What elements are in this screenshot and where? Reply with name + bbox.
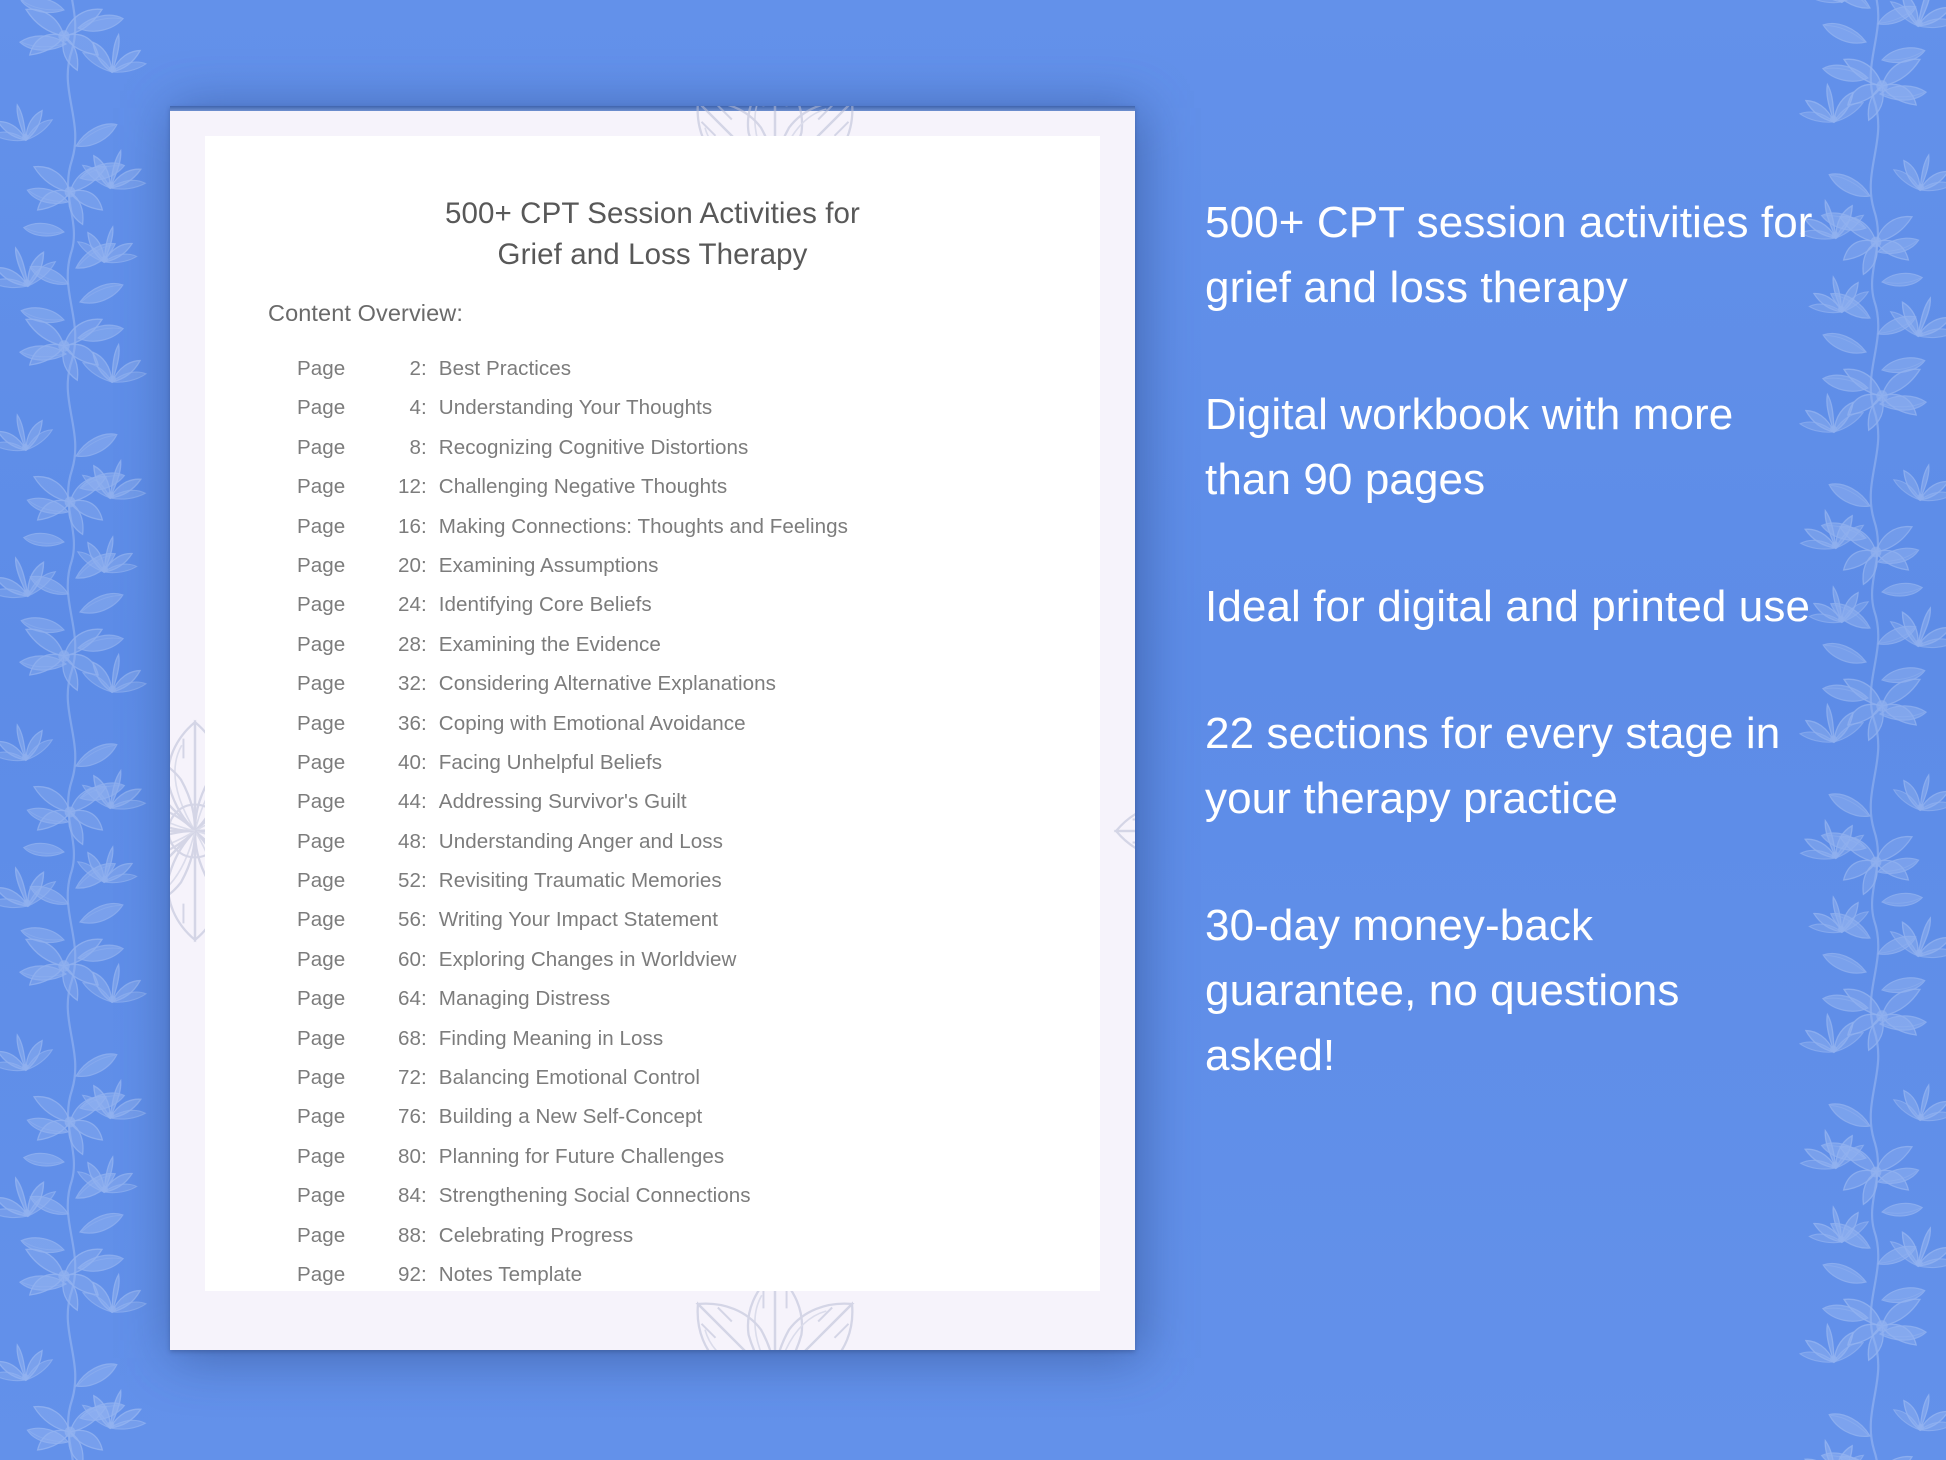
toc-page-number: 2 [385,357,421,381]
toc-row: Page40:Facing Unhelpful Beliefs [297,751,1087,790]
toc-colon: : [421,1027,439,1051]
toc-entry-title: Strengthening Social Connections [439,1184,751,1208]
toc-page-number: 24 [385,593,421,617]
toc-entry-title: Coping with Emotional Avoidance [439,712,746,736]
toc-colon: : [421,1105,439,1129]
toc-page-word: Page [297,633,385,657]
toc-page-number: 56 [385,908,421,932]
toc-colon: : [421,987,439,1011]
floral-vine-border-icon [0,0,152,1460]
toc-entry-title: Building a New Self-Concept [439,1105,703,1129]
toc-row: Page56:Writing Your Impact Statement [297,908,1087,947]
toc-row: Page64:Managing Distress [297,987,1087,1026]
toc-entry-title: Recognizing Cognitive Distortions [439,436,749,460]
toc-page-word: Page [297,987,385,1011]
toc-colon: : [421,1263,439,1287]
toc-colon: : [421,1184,439,1208]
marketing-bullet-list: 500+ CPT session activities for grief an… [1205,190,1815,1088]
toc-page-number: 28 [385,633,421,657]
toc-page-number: 88 [385,1224,421,1248]
toc-page-word: Page [297,1184,385,1208]
toc-row: Page44:Addressing Survivor's Guilt [297,790,1087,829]
toc-page-number: 60 [385,948,421,972]
toc-colon: : [421,633,439,657]
toc-row: Page36:Coping with Emotional Avoidance [297,712,1087,751]
toc-colon: : [421,830,439,854]
toc-page-number: 80 [385,1145,421,1169]
workbook-page-sheet: 500+ CPT Session Activities for Grief an… [205,136,1100,1291]
toc-entry-title: Exploring Changes in Worldview [439,948,737,972]
toc-page-word: Page [297,830,385,854]
marketing-bullet: Digital workbook with more than 90 pages [1205,382,1815,512]
toc-row: Page72:Balancing Emotional Control [297,1066,1087,1105]
toc-entry-title: Identifying Core Beliefs [439,593,652,617]
toc-entry-title: Planning for Future Challenges [439,1145,724,1169]
toc-page-word: Page [297,1027,385,1051]
toc-page-number: 40 [385,751,421,775]
toc-page-word: Page [297,593,385,617]
table-of-contents: Page2:Best PracticesPage4:Understanding … [297,357,1087,1302]
toc-entry-title: Addressing Survivor's Guilt [439,790,687,814]
toc-page-word: Page [297,1145,385,1169]
toc-page-number: 84 [385,1184,421,1208]
toc-row: Page68:Finding Meaning in Loss [297,1027,1087,1066]
toc-entry-title: Best Practices [439,357,571,381]
toc-page-number: 20 [385,554,421,578]
toc-page-number: 32 [385,672,421,696]
toc-page-number: 76 [385,1105,421,1129]
toc-page-word: Page [297,672,385,696]
toc-page-word: Page [297,790,385,814]
toc-row: Page12:Challenging Negative Thoughts [297,475,1087,514]
toc-colon: : [421,948,439,972]
toc-entry-title: Celebrating Progress [439,1224,633,1248]
toc-row: Page32:Considering Alternative Explanati… [297,672,1087,711]
toc-entry-title: Examining the Evidence [439,633,661,657]
marketing-bullet: 500+ CPT session activities for grief an… [1205,190,1815,320]
toc-row: Page84:Strengthening Social Connections [297,1184,1087,1223]
toc-page-word: Page [297,515,385,539]
toc-entry-title: Revisiting Traumatic Memories [439,869,722,893]
toc-row: Page4:Understanding Your Thoughts [297,396,1087,435]
marketing-bullet: 30-day money-back guarantee, no question… [1205,893,1815,1088]
toc-colon: : [421,908,439,932]
toc-colon: : [421,712,439,736]
toc-page-word: Page [297,357,385,381]
toc-page-word: Page [297,1224,385,1248]
card-top-edge [170,106,1135,111]
toc-entry-title: Notes Template [439,1263,582,1287]
toc-colon: : [421,869,439,893]
toc-page-word: Page [297,396,385,420]
toc-colon: : [421,1224,439,1248]
content-overview-label: Content Overview: [268,300,463,327]
toc-page-word: Page [297,1263,385,1287]
toc-page-word: Page [297,948,385,972]
toc-colon: : [421,475,439,499]
page-title-line-1: 500+ CPT Session Activities for [205,193,1100,234]
toc-colon: : [421,396,439,420]
toc-row: Page20:Examining Assumptions [297,554,1087,593]
toc-entry-title: Finding Meaning in Loss [439,1027,663,1051]
toc-page-number: 64 [385,987,421,1011]
toc-row: Page48:Understanding Anger and Loss [297,830,1087,869]
page-title-line-2: Grief and Loss Therapy [205,234,1100,275]
floral-vine-border-icon [1794,0,1946,1460]
toc-entry-title: Facing Unhelpful Beliefs [439,751,662,775]
toc-page-word: Page [297,554,385,578]
toc-row: Page80:Planning for Future Challenges [297,1145,1087,1184]
toc-entry-title: Understanding Anger and Loss [439,830,723,854]
toc-entry-title: Considering Alternative Explanations [439,672,776,696]
toc-page-word: Page [297,1066,385,1090]
toc-page-number: 68 [385,1027,421,1051]
toc-entry-title: Managing Distress [439,987,610,1011]
toc-colon: : [421,1066,439,1090]
toc-page-number: 92 [385,1263,421,1287]
toc-page-word: Page [297,908,385,932]
toc-row: Page8:Recognizing Cognitive Distortions [297,436,1087,475]
toc-page-word: Page [297,475,385,499]
toc-row: Page52:Revisiting Traumatic Memories [297,869,1087,908]
toc-page-number: 52 [385,869,421,893]
marketing-bullet: 22 sections for every stage in your ther… [1205,701,1815,831]
toc-page-number: 72 [385,1066,421,1090]
toc-colon: : [421,593,439,617]
toc-entry-title: Understanding Your Thoughts [439,396,712,420]
toc-row: Page92:Notes Template [297,1263,1087,1302]
toc-colon: : [421,357,439,381]
toc-page-number: 36 [385,712,421,736]
toc-page-word: Page [297,712,385,736]
toc-page-word: Page [297,869,385,893]
toc-row: Page76:Building a New Self-Concept [297,1105,1087,1144]
toc-page-number: 12 [385,475,421,499]
toc-page-number: 8 [385,436,421,460]
marketing-bullet: Ideal for digital and printed use [1205,574,1815,639]
toc-page-word: Page [297,1105,385,1129]
workbook-preview-card: 500+ CPT Session Activities for Grief an… [170,106,1135,1350]
toc-row: Page88:Celebrating Progress [297,1224,1087,1263]
toc-colon: : [421,436,439,460]
toc-entry-title: Balancing Emotional Control [439,1066,700,1090]
page-title: 500+ CPT Session Activities for Grief an… [205,193,1100,275]
toc-page-number: 44 [385,790,421,814]
toc-colon: : [421,1145,439,1169]
toc-row: Page16:Making Connections: Thoughts and … [297,515,1087,554]
toc-row: Page2:Best Practices [297,357,1087,396]
toc-page-number: 4 [385,396,421,420]
toc-page-number: 48 [385,830,421,854]
toc-entry-title: Examining Assumptions [439,554,659,578]
toc-row: Page60:Exploring Changes in Worldview [297,948,1087,987]
toc-entry-title: Writing Your Impact Statement [439,908,718,932]
toc-colon: : [421,515,439,539]
toc-page-word: Page [297,436,385,460]
toc-colon: : [421,790,439,814]
toc-page-number: 16 [385,515,421,539]
toc-colon: : [421,672,439,696]
toc-row: Page28:Examining the Evidence [297,633,1087,672]
product-listing-canvas: 500+ CPT Session Activities for Grief an… [0,0,1946,1460]
toc-colon: : [421,751,439,775]
toc-entry-title: Challenging Negative Thoughts [439,475,727,499]
toc-row: Page24:Identifying Core Beliefs [297,593,1087,632]
toc-entry-title: Making Connections: Thoughts and Feeling… [439,515,848,539]
toc-colon: : [421,554,439,578]
toc-page-word: Page [297,751,385,775]
